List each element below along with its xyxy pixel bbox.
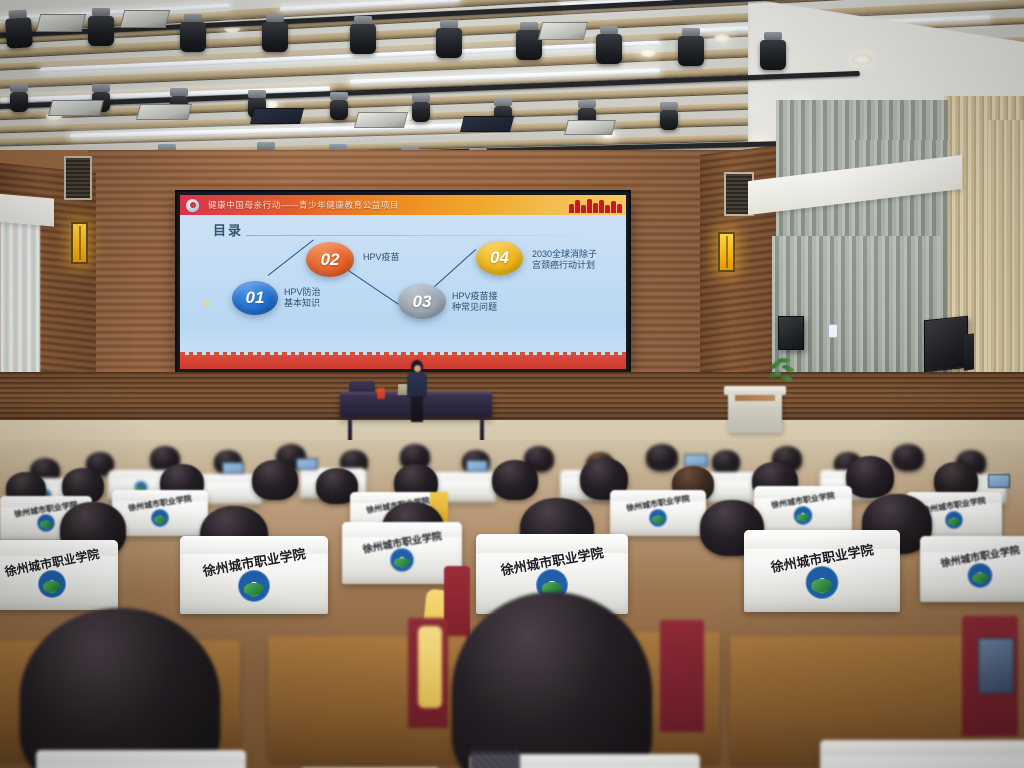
recessed-downlight <box>852 54 872 65</box>
presenter-legs <box>411 396 423 422</box>
potted-plant <box>768 358 794 394</box>
seat-cover[interactable]: 徐州城市职业学院 <box>920 536 1024 602</box>
diagram-bubble-02[interactable]: 02 <box>306 242 354 277</box>
ceiling-panel <box>136 104 192 120</box>
slide-footer-ribbon <box>180 355 626 369</box>
bubble-number: 01 <box>246 288 265 308</box>
stage-light-fixture <box>760 40 786 70</box>
diagram-bubble-04[interactable]: 04 <box>476 241 523 275</box>
title-underline <box>246 235 601 236</box>
stage-light-fixture <box>596 34 622 64</box>
recessed-downlight <box>640 48 656 57</box>
stage-light-fixture <box>262 22 288 52</box>
seat-cover[interactable]: 徐州城市职业学院 <box>0 540 118 610</box>
college-logo <box>806 566 839 599</box>
bubble-number: 02 <box>321 250 340 270</box>
ceiling-panel <box>538 22 588 40</box>
stage-back-wood-wall <box>0 372 1024 424</box>
led-presentation-screen[interactable]: 健康中国母亲行动——青少年健康教育公益项目 目录 01 HPV防治 基本知识 <box>177 192 629 372</box>
ceiling-panel <box>120 10 170 28</box>
bubble-number: 03 <box>413 292 432 312</box>
stage-light-fixture <box>88 16 114 46</box>
tablet-device <box>296 458 318 470</box>
ceiling-panel <box>36 14 86 32</box>
audience-area: 徐州城市职业学院 徐州城市职业学院 徐州城市职业学院 徐州城市职业学院 徐州城市… <box>0 440 1024 768</box>
diagram-accent-dot <box>204 301 209 306</box>
stage-light-fixture <box>412 102 430 122</box>
diagram-label-02: HPV疫苗 <box>363 252 400 263</box>
stage-light-fixture <box>180 22 206 52</box>
slide-banner: 健康中国母亲行动——青少年健康教育公益项目 <box>180 195 626 215</box>
seat-cover[interactable]: 徐州城市职业学院 <box>180 536 328 614</box>
wall-notice-card <box>828 324 838 338</box>
college-logo <box>649 509 667 527</box>
stage-light-fixture <box>330 100 348 120</box>
college-logo <box>37 514 55 532</box>
college-logo <box>238 570 270 602</box>
stage-light-fixture <box>436 28 462 58</box>
college-logo <box>390 548 414 572</box>
speaker-mount-bracket <box>964 333 974 370</box>
tablet-device <box>466 460 488 472</box>
diagram-label-03: HPV疫苗接 种常见问题 <box>452 291 498 313</box>
mesh-bag <box>470 750 520 768</box>
bubble-number: 04 <box>490 248 509 268</box>
college-logo <box>151 509 169 527</box>
ceiling-panel <box>48 100 104 116</box>
recessed-downlight <box>714 34 730 43</box>
seat-cover[interactable] <box>36 750 246 768</box>
wall-speaker <box>924 316 968 373</box>
stage-light-fixture <box>678 36 704 66</box>
diagram-bubble-03[interactable]: 03 <box>398 284 446 319</box>
side-podium <box>728 391 782 433</box>
presenter-face <box>414 365 421 372</box>
tablet-device <box>988 474 1010 488</box>
stage-light-fixture <box>350 24 376 54</box>
wall-sconce-light <box>71 222 88 264</box>
presenter <box>404 360 430 422</box>
college-logo <box>794 506 813 525</box>
wall-air-vent <box>64 156 92 200</box>
tablet-device <box>684 454 708 467</box>
stage-light-fixture <box>660 110 678 130</box>
wall-sconce-light <box>718 232 735 272</box>
diagram-label-01: HPV防治 基本知识 <box>284 287 321 309</box>
ceiling-panel <box>564 120 616 135</box>
banner-title-text: 健康中国母亲行动——青少年健康教育公益项目 <box>208 199 399 211</box>
red-cup <box>377 388 385 399</box>
ceiling-panel <box>460 116 514 132</box>
red-papercut-figures-icon <box>560 197 622 213</box>
presenter-body <box>407 372 427 398</box>
chair-upholstery <box>660 620 704 732</box>
phone-screen <box>978 638 1014 694</box>
podium-nameplate <box>735 395 775 401</box>
foreground-head <box>20 608 220 768</box>
stage-light-fixture <box>5 17 33 49</box>
diagram-bubble-01[interactable]: 01 <box>232 281 278 315</box>
yellow-ribbon <box>418 626 442 708</box>
foreground-head <box>452 592 652 768</box>
college-logo <box>38 570 66 598</box>
diagram-label-04: 2030全球消除子 宫颈癌行动计划 <box>532 249 597 271</box>
ceiling-panel <box>354 112 408 128</box>
slide-page-title: 目录 <box>213 220 243 239</box>
health-china-emblem-icon <box>186 199 199 212</box>
slide-content: 健康中国母亲行动——青少年健康教育公益项目 目录 01 HPV防治 基本知识 <box>180 195 626 369</box>
stage-light-fixture <box>10 92 28 112</box>
college-logo <box>968 563 993 588</box>
college-logo <box>945 511 963 529</box>
ceiling-panel <box>250 108 304 124</box>
tablet-device <box>222 462 244 474</box>
wall-speaker <box>778 316 804 350</box>
lecture-hall-photo: 健康中国母亲行动——青少年健康教育公益项目 目录 01 HPV防治 基本知识 <box>0 0 1024 768</box>
slide-diagram: 01 HPV防治 基本知识 02 HPV疫苗 03 HPV疫苗接 种常见问题 0… <box>180 239 626 349</box>
seat-cover[interactable] <box>820 740 1024 768</box>
seat-cover[interactable]: 徐州城市职业学院 <box>744 530 900 612</box>
left-curtain-pelmet <box>0 193 54 226</box>
